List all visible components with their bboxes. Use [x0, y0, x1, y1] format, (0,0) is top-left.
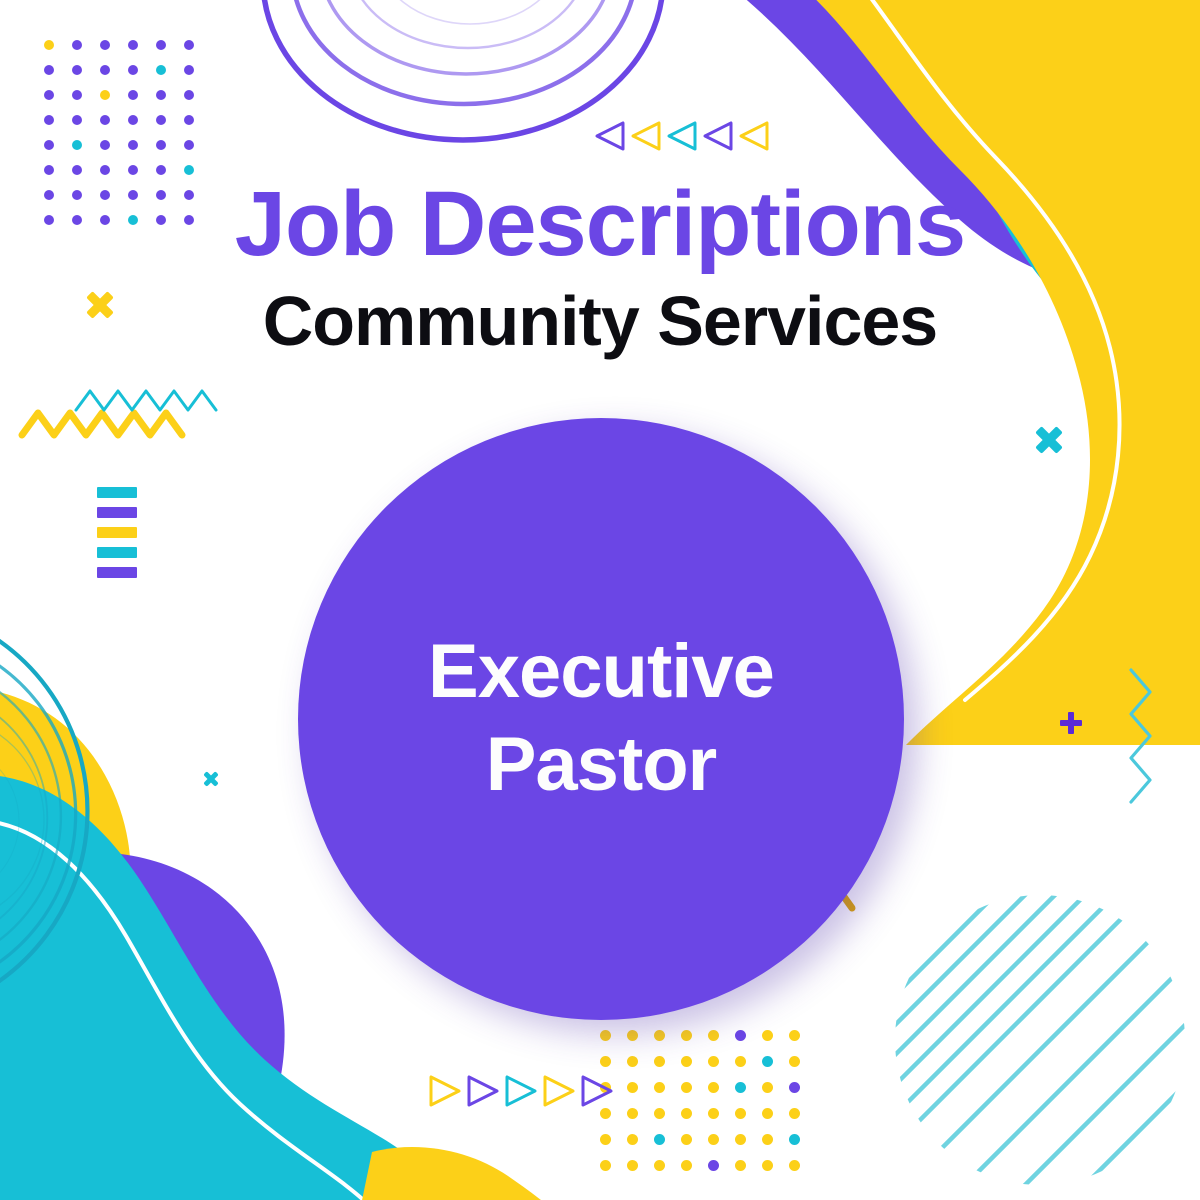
stacked-bar [97, 567, 137, 578]
grid-dot [789, 1160, 800, 1171]
grid-dot [627, 1134, 638, 1145]
triangle-outline-left [666, 120, 698, 152]
triangle-outline-right [504, 1074, 538, 1108]
grid-dot [600, 1134, 611, 1145]
grid-dot [735, 1134, 746, 1145]
zigzag-yellow [22, 413, 182, 435]
grid-dot [156, 90, 166, 100]
grid-dot [156, 140, 166, 150]
page-subtitle: Community Services [0, 286, 1200, 356]
grid-dot [72, 90, 82, 100]
grid-dot [600, 1160, 611, 1171]
triangle-outline-left [594, 120, 626, 152]
grid-dot [654, 1030, 665, 1041]
grid-dot [100, 115, 110, 125]
triangle-row-top [594, 120, 770, 152]
grid-dot [627, 1056, 638, 1067]
grid-dot [72, 40, 82, 50]
grid-dot [789, 1082, 800, 1093]
job-title-label: Executive Pastor [328, 626, 873, 811]
triangle-outline-right [428, 1074, 462, 1108]
grid-dot [100, 90, 110, 100]
grid-dot [789, 1030, 800, 1041]
poster-canvas: Job Descriptions Community Services Exec… [0, 0, 1200, 1200]
concentric-arcs-top [263, 0, 663, 140]
stacked-bar [97, 547, 137, 558]
grid-dot [681, 1108, 692, 1119]
grid-dot [156, 115, 166, 125]
grid-dot [72, 115, 82, 125]
zigzag-cyan [76, 391, 216, 410]
grid-dot [735, 1160, 746, 1171]
grid-dot [128, 40, 138, 50]
grid-dot [128, 140, 138, 150]
grid-dot [789, 1134, 800, 1145]
grid-dot [708, 1030, 719, 1041]
triangle-outline-right [466, 1074, 500, 1108]
grid-dot [654, 1134, 665, 1145]
grid-dot [735, 1030, 746, 1041]
grid-dot [681, 1134, 692, 1145]
grid-dot [789, 1108, 800, 1119]
grid-dot [654, 1082, 665, 1093]
grid-dot [762, 1030, 773, 1041]
grid-dot [708, 1134, 719, 1145]
grid-dot [654, 1160, 665, 1171]
stacked-bar [97, 487, 137, 498]
dot-grid-bottom [600, 1030, 816, 1186]
grid-dot [184, 65, 194, 75]
grid-dot [681, 1082, 692, 1093]
grid-dot [789, 1056, 800, 1067]
grid-dot [654, 1108, 665, 1119]
triangle-outline-right [580, 1074, 614, 1108]
grid-dot [681, 1056, 692, 1067]
triangle-outline-right [542, 1074, 576, 1108]
grid-dot [708, 1082, 719, 1093]
grid-dot [184, 115, 194, 125]
grid-dot [681, 1160, 692, 1171]
x-mark-cyan-small-left [200, 768, 222, 790]
grid-dot [156, 165, 166, 175]
grid-dot [735, 1108, 746, 1119]
page-title: Job Descriptions [0, 178, 1200, 270]
grid-dot [100, 65, 110, 75]
grid-dot [128, 90, 138, 100]
job-title-circle: Executive Pastor [298, 418, 904, 1020]
grid-dot [708, 1056, 719, 1067]
grid-dot [128, 165, 138, 175]
grid-dot [762, 1160, 773, 1171]
grid-dot [762, 1082, 773, 1093]
grid-dot [654, 1056, 665, 1067]
grid-dot [156, 65, 166, 75]
grid-dot [128, 115, 138, 125]
grid-dot [184, 90, 194, 100]
stacked-bar [97, 527, 137, 538]
grid-dot [44, 65, 54, 75]
triangle-outline-left [738, 120, 770, 152]
grid-dot [762, 1134, 773, 1145]
grid-dot [600, 1030, 611, 1041]
grid-dot [100, 165, 110, 175]
grid-dot [44, 140, 54, 150]
stacked-bars [97, 487, 137, 587]
grid-dot [762, 1056, 773, 1067]
grid-dot [184, 165, 194, 175]
grid-dot [44, 115, 54, 125]
grid-dot [72, 65, 82, 75]
grid-dot [708, 1160, 719, 1171]
heading-block: Job Descriptions Community Services [0, 178, 1200, 356]
grid-dot [681, 1030, 692, 1041]
grid-dot [44, 90, 54, 100]
grid-dot [735, 1056, 746, 1067]
grid-dot [72, 165, 82, 175]
grid-dot [627, 1030, 638, 1041]
triangle-outline-left [630, 120, 662, 152]
grid-dot [184, 140, 194, 150]
grid-dot [100, 40, 110, 50]
grid-dot [735, 1082, 746, 1093]
grid-dot [184, 40, 194, 50]
grid-dot [128, 65, 138, 75]
stacked-bar [97, 507, 137, 518]
triangle-outline-left [702, 120, 734, 152]
grid-dot [44, 40, 54, 50]
grid-dot [708, 1108, 719, 1119]
grid-dot [627, 1108, 638, 1119]
plus-mark-purple-right [1058, 710, 1084, 736]
grid-dot [72, 140, 82, 150]
grid-dot [627, 1082, 638, 1093]
grid-dot [762, 1108, 773, 1119]
triangle-row-bottom [428, 1074, 614, 1108]
grid-dot [44, 165, 54, 175]
grid-dot [156, 40, 166, 50]
grid-dot [100, 140, 110, 150]
grid-dot [627, 1160, 638, 1171]
grid-dot [600, 1056, 611, 1067]
blob-bottom-yellow [360, 1147, 552, 1200]
x-mark-cyan-right [1029, 420, 1069, 460]
grid-dot [600, 1108, 611, 1119]
